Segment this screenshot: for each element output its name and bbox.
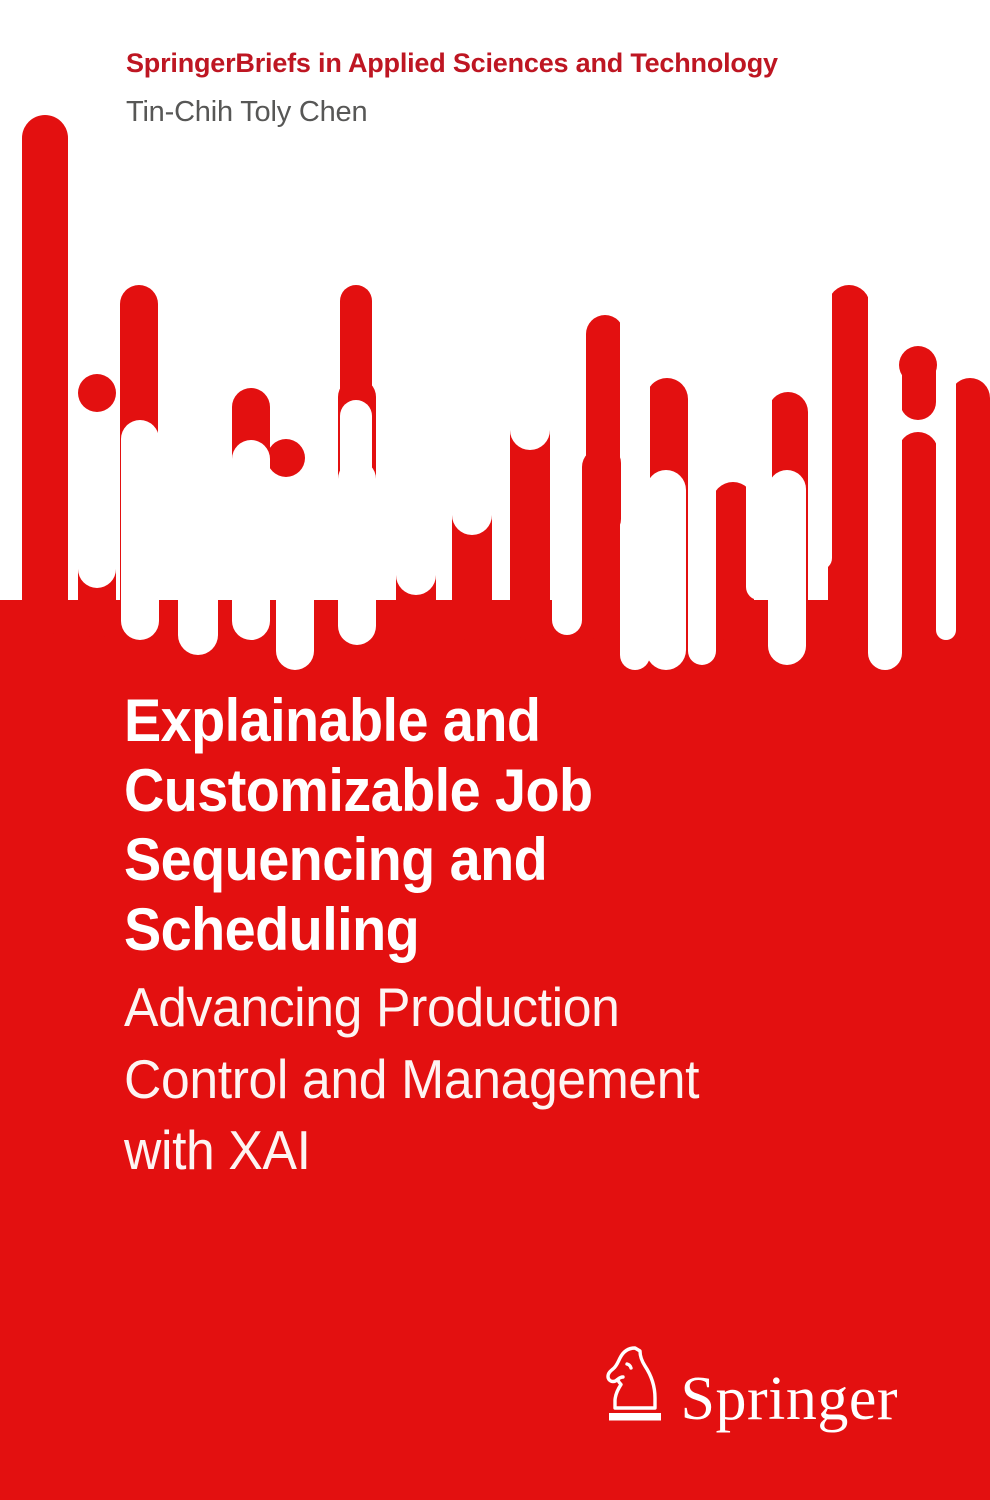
- springer-knight-icon: [604, 1342, 666, 1428]
- book-subtitle-line-2: Control and Management: [124, 1048, 699, 1110]
- book-title-line-2: Customizable Job: [124, 757, 593, 824]
- title-block: Explainable and Customizable Job Sequenc…: [124, 686, 884, 1187]
- book-cover: SpringerBriefs in Applied Sciences and T…: [0, 0, 990, 1500]
- book-subtitle: Advancing Production Control and Managem…: [124, 972, 838, 1187]
- publisher-name: Springer: [680, 1371, 898, 1428]
- author-name: Tin-Chih Toly Chen: [126, 96, 367, 129]
- book-title-line-1: Explainable and: [124, 687, 540, 754]
- series-title: SpringerBriefs in Applied Sciences and T…: [126, 48, 778, 79]
- book-subtitle-line-3: with XAI: [124, 1119, 311, 1181]
- book-title: Explainable and Customizable Job Sequenc…: [124, 686, 831, 964]
- book-subtitle-line-1: Advancing Production: [124, 976, 619, 1038]
- book-title-line-3: Sequencing and: [124, 826, 547, 893]
- book-title-line-4: Scheduling: [124, 896, 419, 963]
- publisher-logo: Springer: [604, 1342, 898, 1428]
